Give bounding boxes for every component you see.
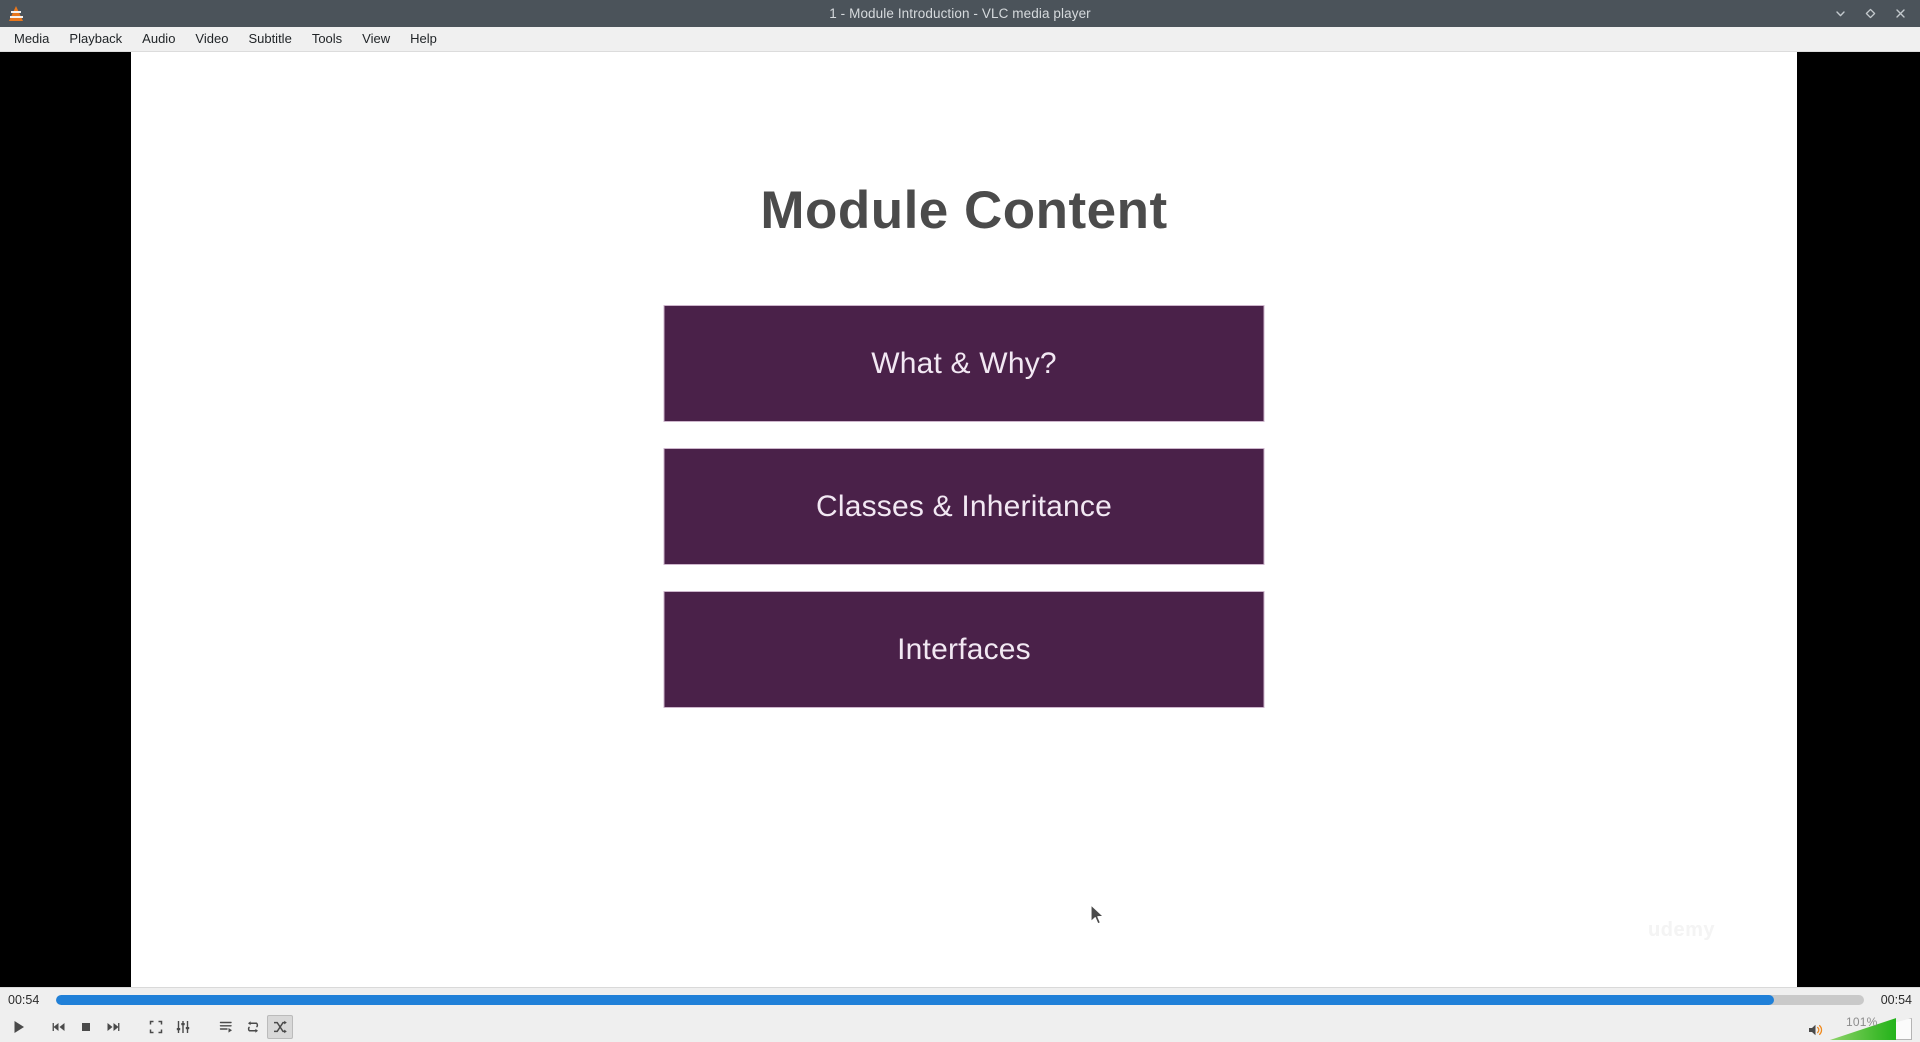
menu-item-audio[interactable]: Audio	[132, 28, 185, 50]
control-bar: 00:54 00:54	[0, 987, 1920, 1042]
slide-box: Interfaces	[664, 591, 1265, 708]
menu-item-playback[interactable]: Playback	[59, 28, 132, 50]
minimize-button[interactable]	[1826, 0, 1854, 27]
volume-slider[interactable]: 101%	[1830, 1018, 1912, 1040]
menu-item-view[interactable]: View	[352, 28, 400, 50]
menu-item-help[interactable]: Help	[400, 28, 447, 50]
slide-box-label: What & Why?	[871, 347, 1057, 381]
elapsed-time: 00:54	[8, 993, 48, 1007]
next-icon	[105, 1019, 121, 1035]
previous-icon	[51, 1019, 67, 1035]
volume-percent-label: 101%	[1846, 1015, 1878, 1029]
seek-slider[interactable]	[56, 995, 1864, 1005]
video-display[interactable]: Module Content What & Why? Classes & Inh…	[0, 52, 1920, 987]
previous-button[interactable]	[46, 1015, 72, 1039]
udemy-watermark: udemy	[1648, 919, 1715, 942]
slide-canvas: Module Content What & Why? Classes & Inh…	[131, 52, 1797, 987]
loop-button[interactable]	[240, 1015, 266, 1039]
playlist-icon	[218, 1019, 234, 1035]
play-icon	[11, 1019, 27, 1035]
slide-box-list: What & Why? Classes & Inheritance Interf…	[664, 305, 1265, 734]
total-time: 00:54	[1872, 993, 1912, 1007]
close-button[interactable]	[1886, 0, 1914, 27]
equalizer-icon	[175, 1019, 191, 1035]
speaker-on-icon[interactable]	[1806, 1020, 1826, 1040]
window-title: 1 - Module Introduction - VLC media play…	[0, 6, 1920, 21]
title-bar: 1 - Module Introduction - VLC media play…	[0, 0, 1920, 27]
volume-control[interactable]: 101%	[1806, 1014, 1912, 1040]
fullscreen-icon	[148, 1019, 164, 1035]
transport-buttons: 101%	[0, 1012, 1920, 1042]
play-button[interactable]	[6, 1015, 32, 1039]
random-button[interactable]	[267, 1015, 293, 1039]
stop-icon	[78, 1019, 94, 1035]
menu-item-media[interactable]: Media	[4, 28, 59, 50]
playlist-button[interactable]	[213, 1015, 239, 1039]
seek-row: 00:54 00:54	[0, 988, 1920, 1012]
diamond-icon	[1864, 7, 1877, 20]
maximize-button[interactable]	[1856, 0, 1884, 27]
equalizer-button[interactable]	[170, 1015, 196, 1039]
slide-box-label: Interfaces	[897, 633, 1031, 667]
seek-fill	[56, 995, 1774, 1005]
slide-box: What & Why?	[664, 305, 1265, 422]
fullscreen-button[interactable]	[143, 1015, 169, 1039]
menu-item-subtitle[interactable]: Subtitle	[238, 28, 301, 50]
window-controls	[1826, 0, 1914, 27]
vlc-window: 1 - Module Introduction - VLC media play…	[0, 0, 1920, 1042]
slide-box: Classes & Inheritance	[664, 448, 1265, 565]
menu-item-video[interactable]: Video	[185, 28, 238, 50]
next-button[interactable]	[100, 1015, 126, 1039]
menu-bar: Media Playback Audio Video Subtitle Tool…	[0, 27, 1920, 52]
loop-icon	[245, 1019, 261, 1035]
slide-title: Module Content	[131, 180, 1797, 241]
chevron-down-icon	[1834, 7, 1847, 20]
vlc-cone-icon	[6, 3, 26, 23]
slide-box-label: Classes & Inheritance	[816, 490, 1112, 524]
menu-item-tools[interactable]: Tools	[302, 28, 352, 50]
close-icon	[1894, 7, 1907, 20]
stop-button[interactable]	[73, 1015, 99, 1039]
shuffle-icon	[272, 1019, 288, 1035]
